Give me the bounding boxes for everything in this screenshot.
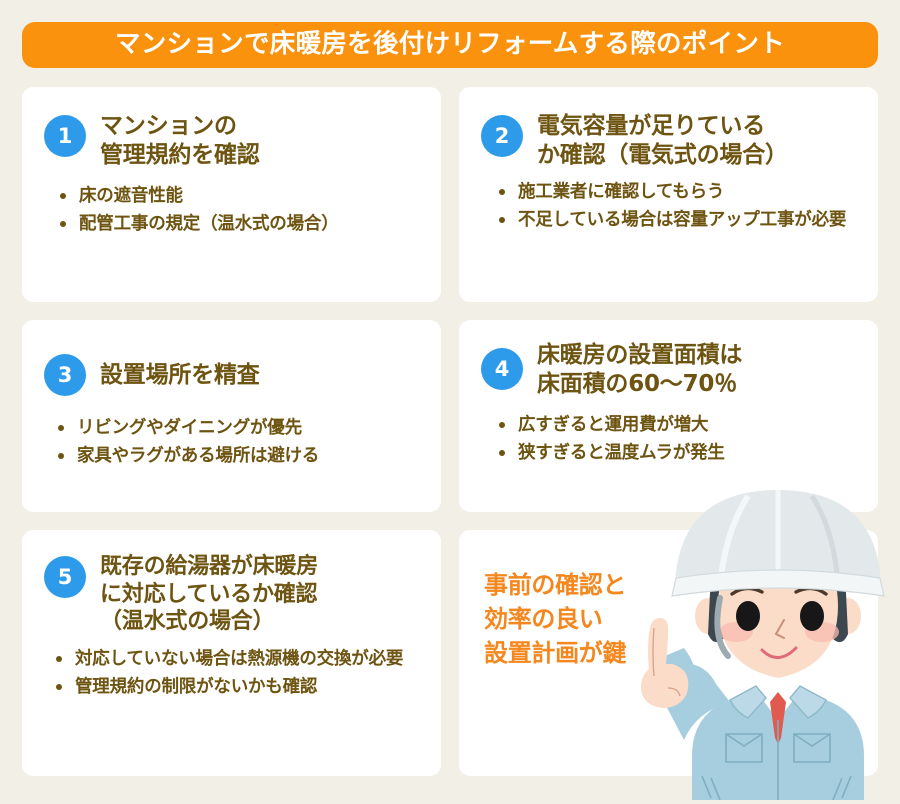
closing-line: 効率の良い (484, 602, 626, 636)
card-header: 3 設置場所を精査 (22, 320, 441, 396)
card-bullet-list: 施工業者に確認してもらう 不足している場合は容量アップ工事が必要 (459, 170, 878, 233)
closing-panel: 事前の確認と 効率の良い 設置計画が鍵 (459, 530, 878, 776)
card-title: 床暖房の設置面積は 床面積の60〜70％ (537, 340, 742, 399)
card-bullet-list: 床の遮音性能 配管工事の規定（温水式の場合） (22, 170, 441, 237)
infographic-page: マンションで床暖房を後付けリフォームする際のポイント 1 マンションの 管理規約… (0, 0, 900, 800)
bullet-item: 配管工事の規定（温水式の場合） (58, 212, 425, 237)
card-title-line: 設置場所を精査 (100, 361, 260, 390)
points-grid: 1 マンションの 管理規約を確認 床の遮音性能 配管工事の規定（温水式の場合） … (22, 87, 878, 776)
card-title-line: 床暖房の設置面積は (537, 341, 742, 370)
card-header: 4 床暖房の設置面積は 床面積の60〜70％ (459, 320, 878, 399)
bullet-item: 床の遮音性能 (58, 184, 425, 209)
card-bullet-list: リビングやダイニングが優先 家具やラグがある場所は避ける (22, 396, 441, 469)
card-title-line: 管理規約を確認 (100, 141, 260, 170)
point-card-2: 2 電気容量が足りている か確認（電気式の場合） 施工業者に確認してもらう 不足… (459, 87, 878, 302)
closing-message: 事前の確認と 効率の良い 設置計画が鍵 (484, 568, 626, 670)
pocket-slit-left (702, 776, 711, 798)
card-title: 設置場所を精査 (100, 360, 260, 390)
card-title-line: に対応しているか確認 (100, 581, 318, 609)
point-card-5: 5 既存の給湯器が床暖房 に対応しているか確認 （温水式の場合） 対応していない… (22, 530, 441, 776)
step-number-badge: 3 (44, 354, 86, 396)
bullet-item: 家具やラグがある場所は避ける (56, 444, 425, 469)
card-bullet-list: 対応していない場合は熱源機の交換が必要 管理規約の制限がないかも確認 (22, 636, 441, 700)
card-title-line: （温水式の場合） (100, 608, 318, 636)
title-banner: マンションで床暖房を後付けリフォームする際のポイント (22, 22, 878, 68)
card-header: 5 既存の給湯器が床暖房 に対応しているか確認 （温水式の場合） (22, 530, 441, 636)
card-title-line: マンションの (100, 112, 260, 141)
pocket-slit-right (842, 776, 851, 798)
card-title: 既存の給湯器が床暖房 に対応しているか確認 （温水式の場合） (100, 552, 318, 636)
card-title: マンションの 管理規約を確認 (100, 111, 260, 170)
card-title-line: 床面積の60〜70％ (537, 370, 742, 399)
card-title-line: 電気容量が足りている (537, 112, 788, 141)
bullet-item: 管理規約の制限がないかも確認 (54, 675, 425, 700)
side-seam-left (711, 778, 720, 800)
card-title-line: か確認（電気式の場合） (537, 141, 788, 170)
closing-line: 設置計画が鍵 (484, 636, 626, 670)
page-title: マンションで床暖房を後付けリフォームする際のポイント (115, 32, 785, 58)
card-title: 電気容量が足りている か確認（電気式の場合） (537, 111, 788, 170)
bullet-item: 広すぎると運用費が増大 (497, 413, 862, 438)
bullet-item: 狭すぎると温度ムラが発生 (497, 441, 862, 466)
card-title-line: 既存の給湯器が床暖房 (100, 553, 318, 581)
point-card-4: 4 床暖房の設置面積は 床面積の60〜70％ 広すぎると運用費が増大 狭すぎると… (459, 320, 878, 512)
bullet-item: 不足している場合は容量アップ工事が必要 (497, 208, 862, 233)
bullet-item: 対応していない場合は熱源機の交換が必要 (54, 647, 425, 672)
step-number-badge: 2 (481, 115, 523, 157)
bullet-item: 施工業者に確認してもらう (497, 180, 862, 205)
step-number-badge: 4 (481, 348, 523, 390)
point-card-3: 3 設置場所を精査 リビングやダイニングが優先 家具やラグがある場所は避ける (22, 320, 441, 512)
card-header: 2 電気容量が足りている か確認（電気式の場合） (459, 87, 878, 170)
side-seam-right (833, 778, 842, 800)
card-bullet-list: 広すぎると運用費が増大 狭すぎると温度ムラが発生 (459, 399, 878, 466)
card-header: 1 マンションの 管理規約を確認 (22, 87, 441, 170)
bullet-item: リビングやダイニングが優先 (56, 416, 425, 441)
point-card-1: 1 マンションの 管理規約を確認 床の遮音性能 配管工事の規定（温水式の場合） (22, 87, 441, 302)
closing-line: 事前の確認と (484, 568, 626, 602)
step-number-badge: 5 (44, 556, 86, 598)
step-number-badge: 1 (44, 115, 86, 157)
